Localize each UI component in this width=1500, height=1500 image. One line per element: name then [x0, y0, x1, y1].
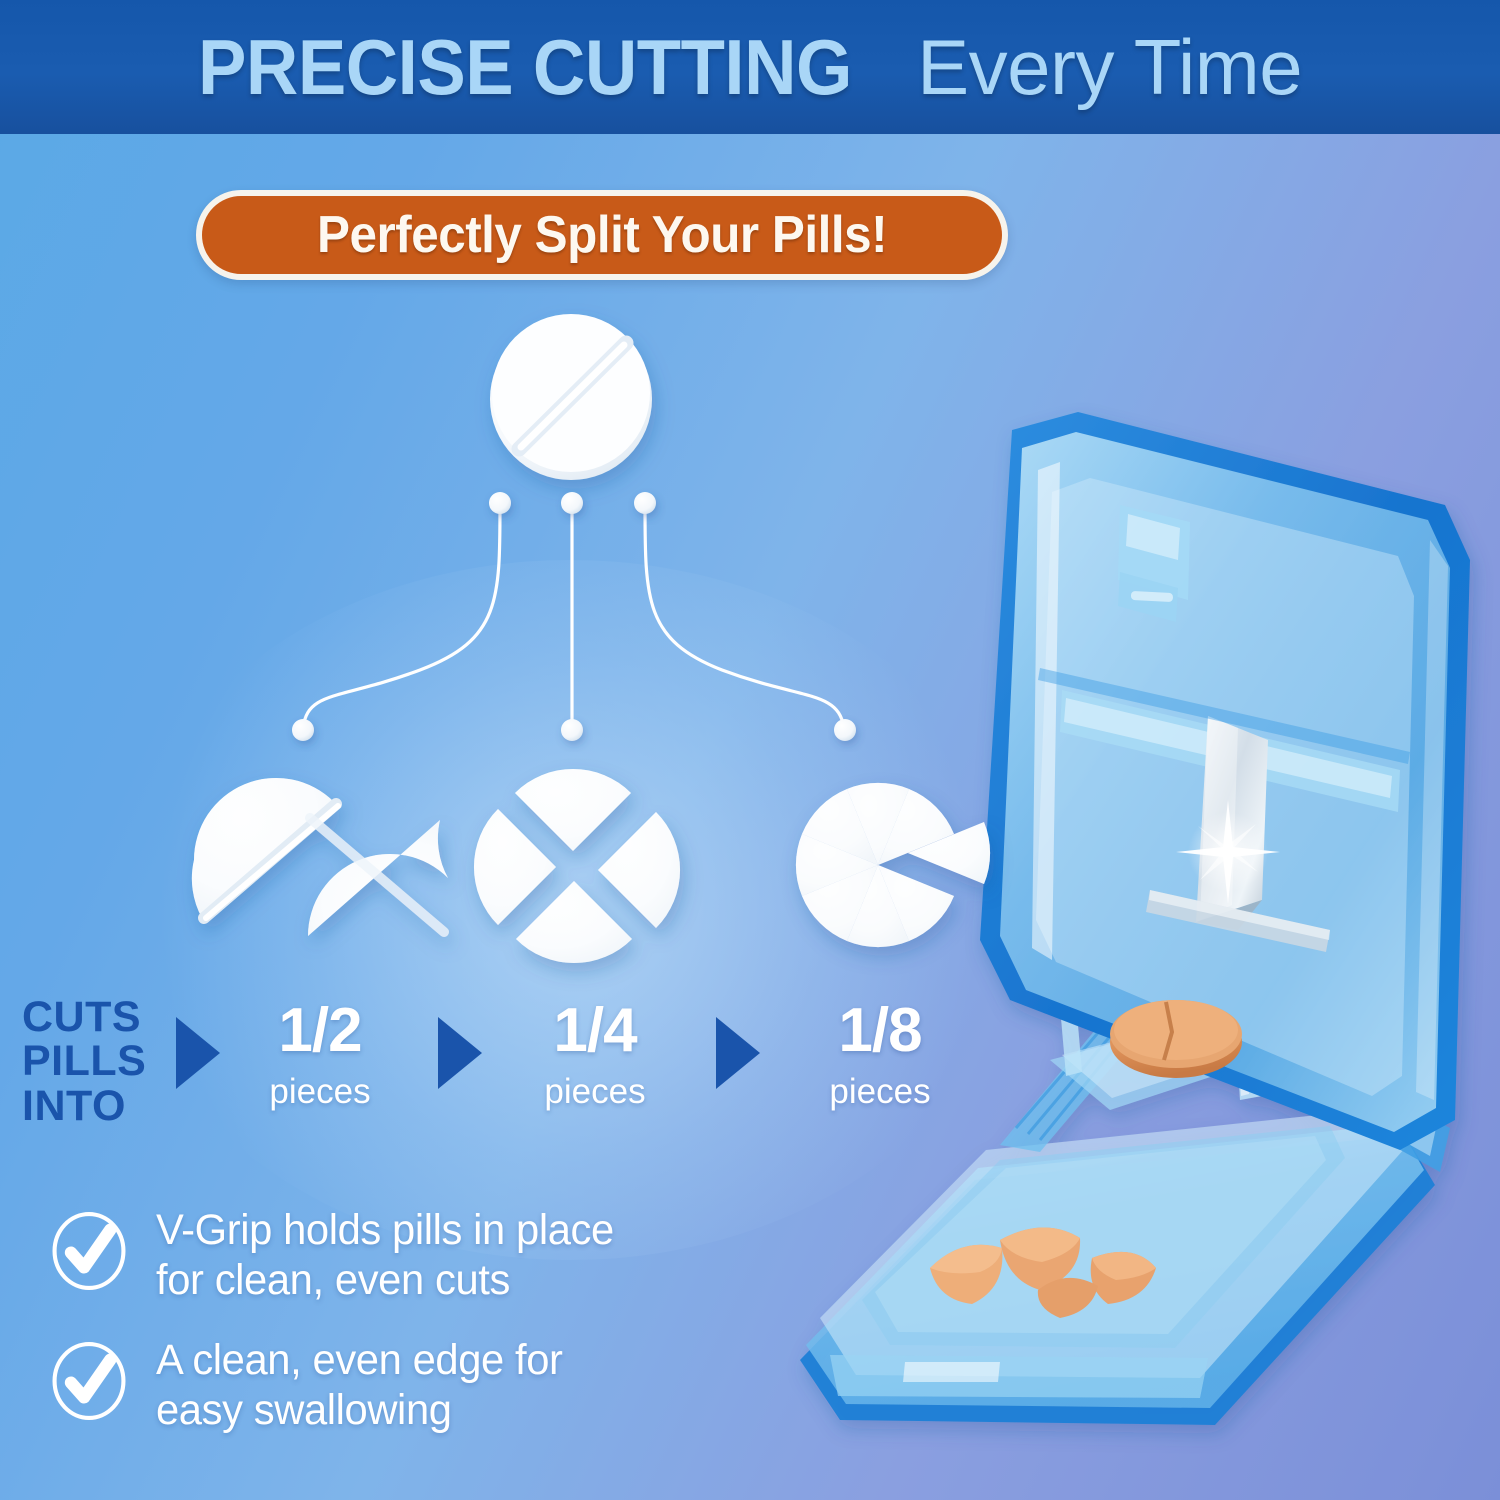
header-bar: PRECISE CUTTINGEvery Time [0, 0, 1500, 134]
product-infographic: PRECISE CUTTINGEvery Time Perfectly Spli… [0, 0, 1500, 1500]
page-title: PRECISE CUTTINGEvery Time [198, 28, 1302, 106]
whole-scored-pill [490, 314, 652, 480]
feature-item-v-grip: V-Grip holds pills in place for clean, e… [48, 1206, 788, 1306]
pill-split-8 [796, 783, 990, 947]
fraction-unit-quarter: pieces [500, 1074, 690, 1109]
feature-text-clean-edge: A clean, even edge for easy swallowing [156, 1336, 563, 1436]
fraction-label-quarter: 1/4 pieces [500, 1000, 690, 1109]
tablet-whole [1110, 1000, 1242, 1078]
cuts-label-line3: INTO [22, 1084, 172, 1128]
tablets-in-tray [930, 1000, 1242, 1318]
cuts-label-line1: CUTS [22, 995, 172, 1039]
fraction-label-half: 1/2 pieces [225, 1000, 415, 1109]
fraction-label-eighth: 1/8 pieces [785, 1000, 975, 1109]
feature-text-v-grip: V-Grip holds pills in place for clean, e… [156, 1206, 614, 1306]
cutter-lid [980, 412, 1470, 1150]
cuts-label-line2: PILLS [22, 1039, 172, 1083]
page-title-strong: PRECISE CUTTING [198, 28, 852, 106]
page-title-light: Every Time [917, 23, 1302, 111]
blade-sparkle-icon [1176, 800, 1280, 904]
feature-2-line1: A clean, even edge for [156, 1336, 563, 1386]
cuts-pills-into-label: CUTS PILLS INTO [22, 995, 172, 1128]
fraction-unit-eighth: pieces [785, 1074, 975, 1109]
check-circle-icon [48, 1210, 130, 1292]
cutter-hinge [1368, 1090, 1450, 1172]
feature-1-line1: V-Grip holds pills in place [156, 1206, 614, 1256]
arrow-right-icon-2 [438, 1017, 482, 1089]
arrow-right-icon-1 [176, 1017, 220, 1089]
headline-banner: Perfectly Split Your Pills! [196, 190, 1008, 280]
fraction-unit-half: pieces [225, 1074, 415, 1109]
pill-split-4 [474, 769, 680, 963]
feature-1-line2: for clean, even cuts [156, 1256, 614, 1306]
arrow-right-icon-3 [716, 1017, 760, 1089]
fraction-value-half: 1/2 [225, 1000, 415, 1062]
fraction-value-eighth: 1/8 [785, 1000, 975, 1062]
pill-split-2 [192, 778, 448, 936]
feature-2-line2: easy swallowing [156, 1386, 563, 1436]
check-circle-icon [48, 1340, 130, 1422]
connector-dots [292, 492, 856, 741]
tablet-halves [930, 1227, 1156, 1318]
headline-banner-text: Perfectly Split Your Pills! [317, 205, 887, 265]
pill-cutter-device [800, 412, 1470, 1425]
background-glow [120, 560, 1020, 1260]
connector-lines [303, 504, 844, 728]
feature-item-clean-edge: A clean, even edge for easy swallowing [48, 1336, 788, 1436]
fraction-value-quarter: 1/4 [500, 1000, 690, 1062]
